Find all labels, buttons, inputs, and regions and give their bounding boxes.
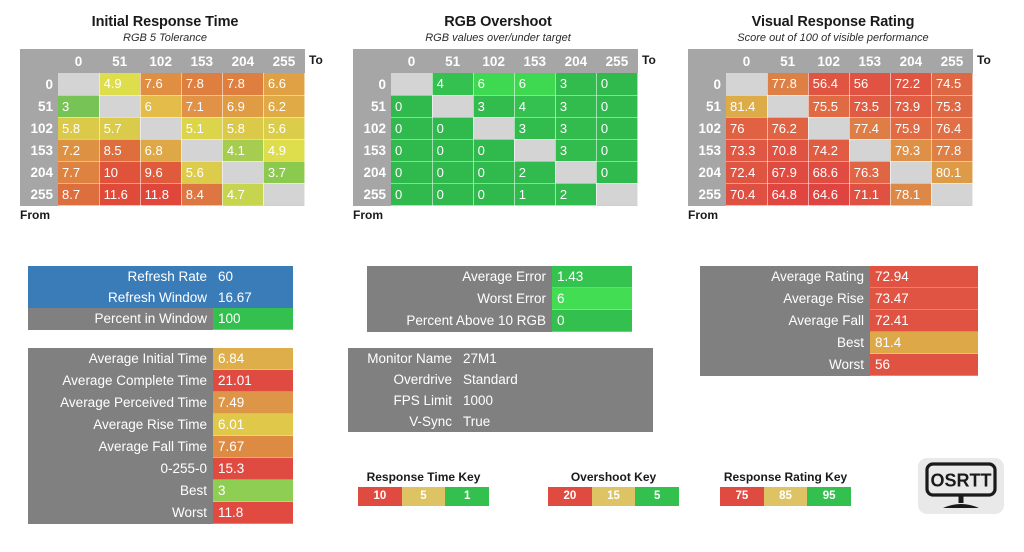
heatmap-cell: 6.2: [263, 95, 304, 117]
heatmap-cell: 64.8: [767, 183, 808, 205]
heatmap-cell: [555, 161, 596, 183]
column-header: 0: [391, 49, 432, 73]
heatmap-cell: 3: [58, 95, 99, 117]
overshoot-table: Average Error1.43Worst Error6Percent Abo…: [367, 266, 632, 332]
panel-visual-response-rating: Visual Response Rating Score out of 100 …: [688, 14, 978, 222]
row-header: 102: [353, 117, 391, 139]
column-header: 102: [808, 49, 849, 73]
grid-corner: [353, 49, 391, 73]
legend-swatch: 95: [807, 487, 851, 506]
heatmap-cell: 71.1: [849, 183, 890, 205]
panel-initial-response-time: Initial Response Time RGB 5 Tolerance 05…: [20, 14, 310, 222]
column-header: 0: [58, 49, 99, 73]
heatmap-cell: 2: [555, 183, 596, 205]
heatmap-cell: [473, 117, 514, 139]
overshoot-summary-box: Average Error1.43Worst Error6Percent Abo…: [367, 266, 632, 332]
heatmap-cell: [140, 117, 181, 139]
heatmap-cell: 7.1: [181, 95, 222, 117]
heatmap-cell: 1: [514, 183, 555, 205]
column-header: 102: [473, 49, 514, 73]
heatmap-cell: 4: [432, 73, 473, 95]
row-header: 0: [688, 73, 726, 95]
table-row: 2047.7109.65.63.7: [20, 161, 305, 183]
column-header: 204: [555, 49, 596, 73]
heatmap-cell: 75.3: [931, 95, 972, 117]
table-row: 51367.16.96.2: [20, 95, 305, 117]
summary-value: 72.41: [870, 310, 978, 332]
summary-label: Monitor Name: [348, 348, 458, 369]
summary-value: 56: [870, 354, 978, 376]
summary-row: Refresh Window16.67: [28, 287, 293, 308]
summary-value: 6: [552, 288, 632, 310]
legend-swatches: 20155: [548, 487, 679, 506]
heatmap-cell: 6: [473, 73, 514, 95]
summary-value: Standard: [458, 369, 653, 390]
heatmap-cell: 76.2: [767, 117, 808, 139]
heatmap-cell: [514, 139, 555, 161]
panel-rgb-overshoot: RGB Overshoot RGB values over/under targ…: [353, 14, 643, 222]
summary-label: FPS Limit: [348, 390, 458, 411]
summary-value: 27M1: [458, 348, 653, 369]
row-header: 255: [20, 183, 58, 205]
heatmap-cell: 0: [391, 161, 432, 183]
summary-value: 81.4: [870, 332, 978, 354]
summary-row: Percent in Window100: [28, 308, 293, 330]
column-header: 153: [181, 49, 222, 73]
heatmap-grid-wrapper: 0511021532042550466305103430102003301530…: [353, 49, 643, 206]
summary-label: Average Complete Time: [28, 370, 213, 392]
axis-from-label: From: [353, 208, 643, 222]
heatmap-cell: 0: [391, 139, 432, 161]
heatmap-cell: 11.6: [99, 183, 140, 205]
heatmap-cell: 77.8: [931, 139, 972, 161]
column-header: 51: [99, 49, 140, 73]
legend-swatch: 1: [445, 487, 489, 506]
summary-value: 6.84: [213, 348, 293, 370]
summary-label: Refresh Rate: [28, 266, 213, 287]
refresh-rate-table: Refresh Rate60Refresh Window16.67Percent…: [28, 266, 293, 330]
summary-label: Average Rise Time: [28, 414, 213, 436]
summary-label: Best: [700, 332, 870, 354]
table-row: 1025.85.75.15.85.6: [20, 117, 305, 139]
heatmap-cell: 0: [473, 183, 514, 205]
heatmap-cell: 0: [391, 95, 432, 117]
heatmap-cell: 81.4: [726, 95, 767, 117]
panel-subtitle: Score out of 100 of visible performance: [688, 31, 978, 45]
heatmap-cell: 0: [473, 161, 514, 183]
heatmap-cell: 73.3: [726, 139, 767, 161]
heatmap-cell: 3: [555, 139, 596, 161]
heatmap-cell: 6.9: [222, 95, 263, 117]
heatmap-cell: 5.7: [99, 117, 140, 139]
heatmap-cell: [596, 183, 637, 205]
table-row: 077.856.45672.274.5: [688, 73, 973, 95]
table-row: 2558.711.611.88.44.7: [20, 183, 305, 205]
summary-row: Average Fall72.41: [700, 310, 978, 332]
heatmap-cell: 8.5: [99, 139, 140, 161]
heatmap-cell: 78.1: [890, 183, 931, 205]
table-row: 5103430: [353, 95, 638, 117]
summary-row: Best81.4: [700, 332, 978, 354]
summary-value: 1.43: [552, 266, 632, 288]
heatmap-cell: 70.4: [726, 183, 767, 205]
heatmap-cell: [58, 73, 99, 95]
summary-row: Average Rating72.94: [700, 266, 978, 288]
axis-from-label: From: [20, 208, 310, 222]
column-header: 102: [140, 49, 181, 73]
heatmap-cell: 73.5: [849, 95, 890, 117]
panel-title: Initial Response Time: [20, 14, 310, 31]
heatmap-cell: 4.1: [222, 139, 263, 161]
summary-label: Average Fall Time: [28, 436, 213, 458]
heatmap-cell: 5.6: [263, 117, 304, 139]
heatmap-cell: 4: [514, 95, 555, 117]
heatmap-cell: 3: [473, 95, 514, 117]
heatmap-cell: 3.7: [263, 161, 304, 183]
column-header: 51: [432, 49, 473, 73]
row-header: 51: [688, 95, 726, 117]
heatmap-cell: [181, 139, 222, 161]
row-header: 0: [20, 73, 58, 95]
heatmap-cell: 5.8: [222, 117, 263, 139]
heatmap-cell: 0: [473, 139, 514, 161]
heatmap-cell: [222, 161, 263, 183]
summary-row: FPS Limit1000: [348, 390, 653, 411]
table-row: 25570.464.864.671.178.1: [688, 183, 973, 205]
row-header: 204: [20, 161, 58, 183]
heatmap-cell: [890, 161, 931, 183]
refresh-rate-box: Refresh Rate60Refresh Window16.67Percent…: [28, 266, 293, 330]
heatmap-cell: 0: [391, 183, 432, 205]
heatmap-cell: 0: [596, 139, 637, 161]
heatmap-cell: 73.9: [890, 95, 931, 117]
table-row: 15300030: [353, 139, 638, 161]
row-header: 204: [688, 161, 726, 183]
table-row: 10200330: [353, 117, 638, 139]
legend-title: Overshoot Key: [548, 470, 679, 484]
heatmap-cell: 4.9: [99, 73, 140, 95]
summary-label: Worst Error: [367, 288, 552, 310]
heatmap-cell: 5.6: [181, 161, 222, 183]
heatmap-cell: 6: [514, 73, 555, 95]
column-header: 153: [849, 49, 890, 73]
summary-row: Average Fall Time7.67: [28, 436, 293, 458]
legend-swatch: 20: [548, 487, 592, 506]
heatmap-cell: 7.8: [181, 73, 222, 95]
row-header: 255: [353, 183, 391, 205]
heatmap-cell: 6: [140, 95, 181, 117]
heatmap-cell: 4.7: [222, 183, 263, 205]
heatmap-cell: 9.6: [140, 161, 181, 183]
row-header: 255: [688, 183, 726, 205]
heatmap-cell: 76: [726, 117, 767, 139]
heatmap-cell: 7.8: [222, 73, 263, 95]
summary-label: Best: [28, 480, 213, 502]
row-header: 204: [353, 161, 391, 183]
table-row: 1027676.277.475.976.4: [688, 117, 973, 139]
heatmap-cell: 0: [596, 73, 637, 95]
summary-row: OverdriveStandard: [348, 369, 653, 390]
monitor-icon: OSRTT: [918, 458, 1004, 514]
panel-subtitle: RGB values over/under target: [353, 31, 643, 45]
heatmap-cell: 75.5: [808, 95, 849, 117]
heatmap-cell: 5.8: [58, 117, 99, 139]
legend-overshoot-key: Overshoot Key 20155: [548, 470, 679, 506]
row-header: 153: [688, 139, 726, 161]
table-row: 1537.28.56.84.14.9: [20, 139, 305, 161]
heatmap-cell: 74.5: [931, 73, 972, 95]
summary-label: Average Error: [367, 266, 552, 288]
heatmap-cell: [391, 73, 432, 95]
row-header: 153: [353, 139, 391, 161]
heatmap-cell: 4.9: [263, 139, 304, 161]
legend-swatch: 75: [720, 487, 764, 506]
legend-title: Response Time Key: [358, 470, 489, 484]
legend-swatch: 15: [592, 487, 636, 506]
axis-from-label: From: [688, 208, 978, 222]
column-header: 204: [890, 49, 931, 73]
heatmap-cell: 8.7: [58, 183, 99, 205]
column-header: 255: [596, 49, 637, 73]
summary-label: Worst: [28, 502, 213, 524]
heatmap-cell: 64.6: [808, 183, 849, 205]
table-row: 15373.370.874.279.377.8: [688, 139, 973, 161]
heatmap-cell: 80.1: [931, 161, 972, 183]
heatmap-cell: 0: [596, 117, 637, 139]
summary-label: V-Sync: [348, 411, 458, 432]
heatmap-cell: 0: [596, 161, 637, 183]
summary-row: Percent Above 10 RGB0: [367, 310, 632, 332]
summary-row: V-SyncTrue: [348, 411, 653, 432]
heatmap-cell: 0: [432, 183, 473, 205]
heatmap-cell: 7.2: [58, 139, 99, 161]
heatmap-cell: 8.4: [181, 183, 222, 205]
grid-corner: [20, 49, 58, 73]
summary-row: Monitor Name27M1: [348, 348, 653, 369]
summary-row: Average Rise73.47: [700, 288, 978, 310]
summary-label: Percent in Window: [28, 308, 213, 330]
logo-text: OSRTT: [931, 471, 992, 491]
summary-label: Percent Above 10 RGB: [367, 310, 552, 332]
heatmap-cell: 3: [555, 95, 596, 117]
summary-label: Overdrive: [348, 369, 458, 390]
summary-label: Average Rating: [700, 266, 870, 288]
summary-label: 0-255-0: [28, 458, 213, 480]
summary-value: 73.47: [870, 288, 978, 310]
table-row: 5181.475.573.573.975.3: [688, 95, 973, 117]
heatmap-cell: 72.4: [726, 161, 767, 183]
summary-label: Average Initial Time: [28, 348, 213, 370]
table-row: 25500012: [353, 183, 638, 205]
heatmap-cell: 5.1: [181, 117, 222, 139]
summary-row: Average Perceived Time7.49: [28, 392, 293, 414]
summary-value: 60: [213, 266, 293, 287]
summary-row: Worst56: [700, 354, 978, 376]
heatmap-cell: 0: [432, 139, 473, 161]
legend-swatches: 1051: [358, 487, 489, 506]
summary-value: 3: [213, 480, 293, 502]
summary-value: 100: [213, 308, 293, 330]
legend-swatch: 5: [402, 487, 446, 506]
monitor-info-table: Monitor Name27M1OverdriveStandardFPS Lim…: [348, 348, 653, 432]
summary-label: Worst: [700, 354, 870, 376]
panel-title: RGB Overshoot: [353, 14, 643, 31]
legend-swatch: 5: [635, 487, 679, 506]
rating-table: Average Rating72.94Average Rise73.47Aver…: [700, 266, 978, 376]
heatmap-cell: 72.2: [890, 73, 931, 95]
heatmap-cell: 0: [432, 117, 473, 139]
heatmap-cell: 0: [391, 117, 432, 139]
summary-value: 15.3: [213, 458, 293, 480]
summary-value: 7.67: [213, 436, 293, 458]
heatmap-cell: 76.3: [849, 161, 890, 183]
heatmap-grid-wrapper: 051102153204255077.856.45672.274.55181.4…: [688, 49, 978, 206]
heatmap-table: 0511021532042550466305103430102003301530…: [353, 49, 638, 206]
heatmap-cell: 67.9: [767, 161, 808, 183]
heatmap-cell: [767, 95, 808, 117]
table-row: 20472.467.968.676.380.1: [688, 161, 973, 183]
response-time-summary-box: Average Initial Time6.84Average Complete…: [28, 348, 293, 524]
summary-label: Refresh Window: [28, 287, 213, 308]
column-header: 255: [931, 49, 972, 73]
heatmap-cell: 0: [432, 161, 473, 183]
axis-to-label: To: [977, 53, 991, 67]
column-header: 255: [263, 49, 304, 73]
summary-row: Average Error1.43: [367, 266, 632, 288]
heatmap-grid-wrapper: 05110215320425504.97.67.87.86.651367.16.…: [20, 49, 310, 206]
summary-row: Average Complete Time21.01: [28, 370, 293, 392]
row-header: 102: [688, 117, 726, 139]
summary-value: 21.01: [213, 370, 293, 392]
summary-row: Average Rise Time6.01: [28, 414, 293, 436]
heatmap-table: 05110215320425504.97.67.87.86.651367.16.…: [20, 49, 305, 206]
panel-title: Visual Response Rating: [688, 14, 978, 31]
table-row: 20400020: [353, 161, 638, 183]
heatmap-cell: 77.4: [849, 117, 890, 139]
summary-value: 6.01: [213, 414, 293, 436]
osrtt-logo: OSRTT: [918, 458, 1004, 514]
heatmap-cell: 11.8: [140, 183, 181, 205]
legend-response-time-key: Response Time Key 1051: [358, 470, 489, 506]
summary-value: 7.49: [213, 392, 293, 414]
heatmap-cell: 7.7: [58, 161, 99, 183]
summary-value: 0: [552, 310, 632, 332]
heatmap-cell: [263, 183, 304, 205]
heatmap-cell: 10: [99, 161, 140, 183]
column-header: 204: [222, 49, 263, 73]
row-header: 51: [353, 95, 391, 117]
axis-to-label: To: [309, 53, 323, 67]
heatmap-cell: 56.4: [808, 73, 849, 95]
legend-swatch: 10: [358, 487, 402, 506]
column-header: 0: [726, 49, 767, 73]
heatmap-cell: 56: [849, 73, 890, 95]
legend-title: Response Rating Key: [720, 470, 851, 484]
heatmap-cell: 70.8: [767, 139, 808, 161]
summary-row: Worst11.8: [28, 502, 293, 524]
summary-row: 0-255-015.3: [28, 458, 293, 480]
legend-swatches: 758595: [720, 487, 851, 506]
summary-value: True: [458, 411, 653, 432]
row-header: 51: [20, 95, 58, 117]
summary-row: Refresh Rate60: [28, 266, 293, 287]
heatmap-cell: 68.6: [808, 161, 849, 183]
heatmap-cell: 2: [514, 161, 555, 183]
row-header: 153: [20, 139, 58, 161]
heatmap-cell: [808, 117, 849, 139]
summary-row: Worst Error6: [367, 288, 632, 310]
summary-value: 11.8: [213, 502, 293, 524]
summary-label: Average Rise: [700, 288, 870, 310]
heatmap-cell: 6.8: [140, 139, 181, 161]
legend-swatch: 85: [764, 487, 808, 506]
heatmap-cell: [849, 139, 890, 161]
grid-corner: [688, 49, 726, 73]
heatmap-cell: 79.3: [890, 139, 931, 161]
table-row: 046630: [353, 73, 638, 95]
table-row: 04.97.67.87.86.6: [20, 73, 305, 95]
legend-response-rating-key: Response Rating Key 758595: [720, 470, 851, 506]
heatmap-cell: 77.8: [767, 73, 808, 95]
heatmap-cell: [99, 95, 140, 117]
heatmap-cell: [726, 73, 767, 95]
row-header: 0: [353, 73, 391, 95]
summary-label: Average Perceived Time: [28, 392, 213, 414]
monitor-info-box: Monitor Name27M1OverdriveStandardFPS Lim…: [348, 348, 653, 432]
heatmap-cell: 0: [596, 95, 637, 117]
heatmap-cell: 7.6: [140, 73, 181, 95]
heatmap-cell: 6.6: [263, 73, 304, 95]
column-header: 51: [767, 49, 808, 73]
summary-row: Average Initial Time6.84: [28, 348, 293, 370]
heatmap-cell: 3: [555, 117, 596, 139]
axis-to-label: To: [642, 53, 656, 67]
heatmap-cell: [931, 183, 972, 205]
summary-row: Best3: [28, 480, 293, 502]
heatmap-cell: 76.4: [931, 117, 972, 139]
heatmap-cell: 74.2: [808, 139, 849, 161]
column-header: 153: [514, 49, 555, 73]
summary-value: 1000: [458, 390, 653, 411]
heatmap-cell: 75.9: [890, 117, 931, 139]
response-time-table: Average Initial Time6.84Average Complete…: [28, 348, 293, 524]
summary-label: Average Fall: [700, 310, 870, 332]
panel-subtitle: RGB 5 Tolerance: [20, 31, 310, 45]
heatmap-table: 051102153204255077.856.45672.274.55181.4…: [688, 49, 973, 206]
rating-summary-box: Average Rating72.94Average Rise73.47Aver…: [700, 266, 978, 376]
heatmap-cell: [432, 95, 473, 117]
summary-value: 72.94: [870, 266, 978, 288]
row-header: 102: [20, 117, 58, 139]
heatmap-cell: 3: [514, 117, 555, 139]
heatmap-cell: 3: [555, 73, 596, 95]
summary-value: 16.67: [213, 287, 293, 308]
